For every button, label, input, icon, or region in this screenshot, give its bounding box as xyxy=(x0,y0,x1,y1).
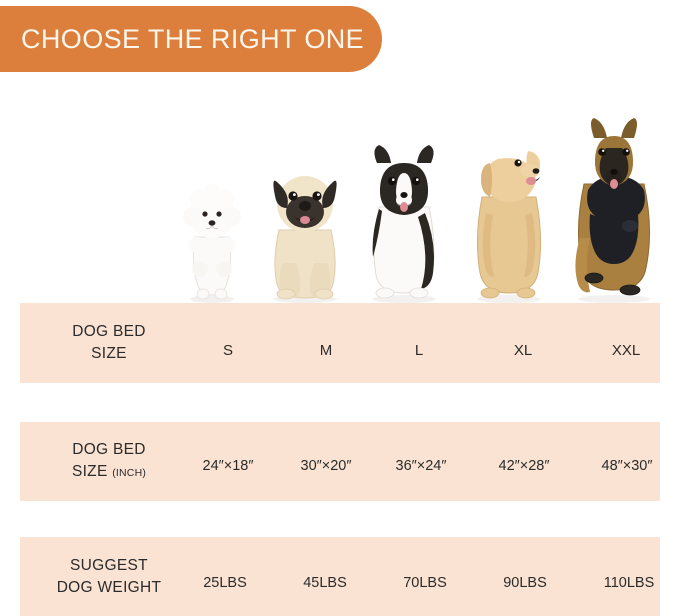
row-label-line2: DOG WEIGHT xyxy=(26,577,192,599)
cell-inch-l: 36″×24″ xyxy=(396,458,447,474)
border-collie-image xyxy=(363,143,445,303)
page-title: CHOOSE THE RIGHT ONE xyxy=(0,24,364,55)
row-label-unit-note: (INCH) xyxy=(112,467,146,479)
bichon-frise-image xyxy=(183,181,241,303)
cell-size-m: M xyxy=(320,342,333,359)
cell-weight-l: 70LBS xyxy=(403,575,447,591)
cell-weight-xl: 90LBS xyxy=(503,575,547,591)
row-label-dog-weight: SUGGEST DOG WEIGHT xyxy=(20,555,192,599)
row-label-line2-text: SIZE xyxy=(72,463,108,480)
cell-inch-xxl: 48″×30″ xyxy=(602,458,653,474)
row-label-line2: SIZE (INCH) xyxy=(26,461,192,484)
cell-weight-s: 25LBS xyxy=(203,575,247,591)
table-row-dog-weight: SUGGEST DOG WEIGHT 25LBS 45LBS 70LBS 90L… xyxy=(20,537,660,616)
cell-size-s: S xyxy=(223,342,233,359)
golden-retriever-image xyxy=(468,135,550,303)
row-label-bed-size-inch: DOG BED SIZE (INCH) xyxy=(20,439,192,484)
header-banner: CHOOSE THE RIGHT ONE xyxy=(0,6,382,72)
row-values-bed-size: S M L XL XXL xyxy=(192,303,660,383)
cell-size-xl: XL xyxy=(514,342,532,359)
row-label-line1: DOG BED xyxy=(72,323,146,340)
cell-inch-m: 30″×20″ xyxy=(301,458,352,474)
cell-weight-xxl: 110LBS xyxy=(604,575,655,591)
pug-image xyxy=(263,168,347,303)
table-row-bed-size-inch: DOG BED SIZE (INCH) 24″×18″ 30″×20″ 36″×… xyxy=(20,422,660,501)
cell-weight-m: 45LBS xyxy=(303,575,347,591)
cell-size-l: L xyxy=(415,342,423,359)
row-label-line1: SUGGEST xyxy=(70,557,148,574)
german-shepherd-image xyxy=(568,118,660,303)
row-values-bed-size-inch: 24″×18″ 30″×20″ 36″×24″ 42″×28″ 48″×30″ xyxy=(192,422,660,501)
cell-inch-xl: 42″×28″ xyxy=(499,458,550,474)
table-row-bed-size: DOG BED SIZE S M L XL XXL xyxy=(20,303,660,383)
row-label-bed-size: DOG BED SIZE xyxy=(20,321,192,365)
row-label-line1: DOG BED xyxy=(72,441,146,458)
cell-size-xxl: XXL xyxy=(612,342,640,359)
row-values-dog-weight: 25LBS 45LBS 70LBS 90LBS 110LBS xyxy=(192,537,660,616)
cell-inch-s: 24″×18″ xyxy=(203,458,254,474)
row-label-line2: SIZE xyxy=(26,343,192,365)
dog-illustration-row xyxy=(0,96,679,303)
